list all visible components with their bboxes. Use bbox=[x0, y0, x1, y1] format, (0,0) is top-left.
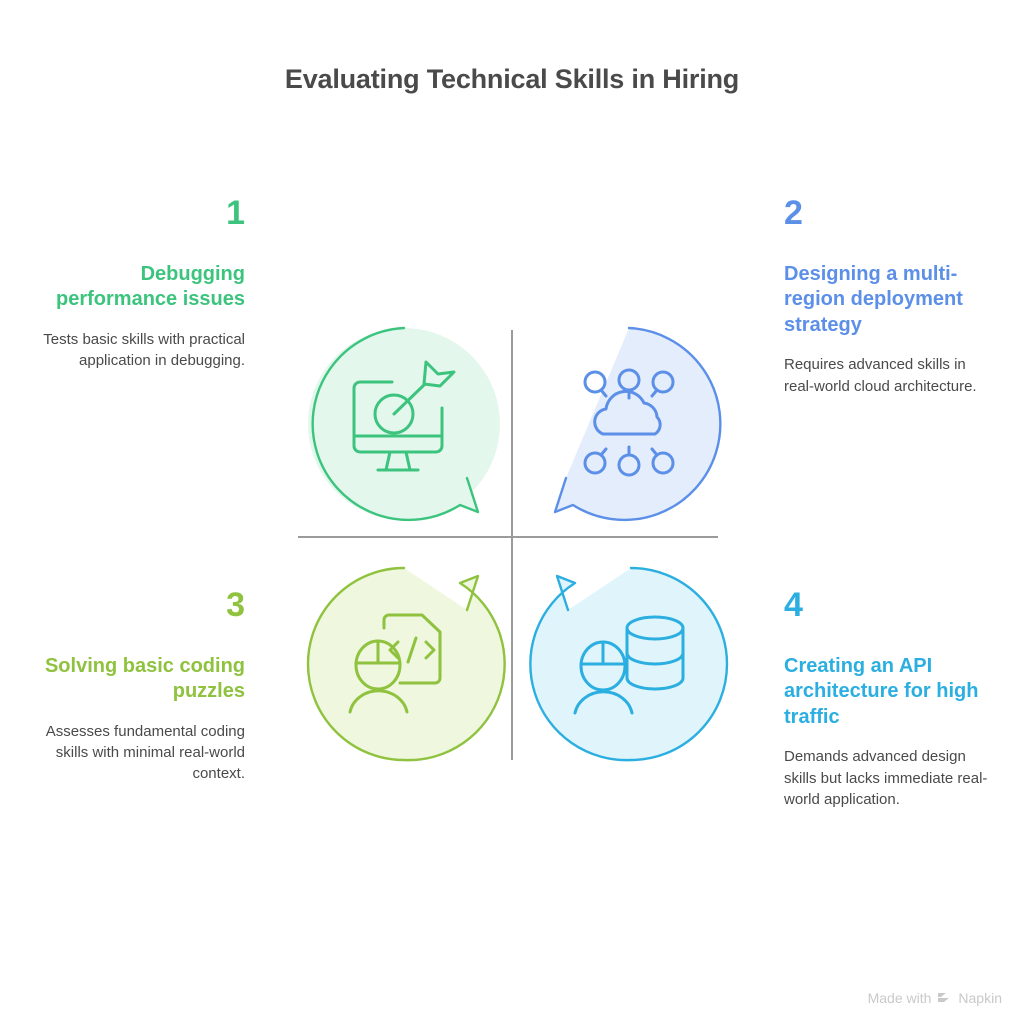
quadrant-heading-4: Creating an API architecture for high tr… bbox=[784, 654, 994, 731]
speech-bubble-shape-4 bbox=[530, 568, 727, 760]
infographic-page: Evaluating Technical Skills in Hiring bbox=[0, 0, 1024, 1024]
quadrant-text-4: 4 Creating an API architecture for high … bbox=[784, 588, 994, 810]
watermark-brand: Napkin bbox=[958, 990, 1002, 1006]
quadrant-number-3: 3 bbox=[35, 588, 245, 624]
watermark-prefix: Made with bbox=[868, 990, 932, 1006]
page-title: Evaluating Technical Skills in Hiring bbox=[0, 64, 1024, 95]
quadrant-text-1: 1 Debugging performance issues Tests bas… bbox=[35, 196, 245, 371]
quadrant-number-1: 1 bbox=[35, 196, 245, 232]
quadrant-text-3: 3 Solving basic coding puzzles Assesses … bbox=[35, 588, 245, 785]
quadrant-description-4: Demands advanced design skills but lacks… bbox=[784, 746, 994, 810]
quadrant-text-2: 2 Designing a multi-region deployment st… bbox=[784, 196, 994, 397]
quadrant-number-2: 2 bbox=[784, 196, 994, 232]
watermark: Made with Napkin bbox=[868, 990, 1002, 1006]
bubble-quadrant-4[interactable] bbox=[527, 560, 735, 768]
speech-bubble-shape-3 bbox=[308, 568, 505, 760]
bubble-quadrant-1[interactable] bbox=[300, 320, 508, 528]
quadrant-heading-2: Designing a multi-region deployment stra… bbox=[784, 262, 994, 339]
quadrant-axis-horizontal bbox=[298, 536, 718, 538]
speech-bubble-shape-2 bbox=[555, 328, 720, 520]
quadrant-description-2: Requires advanced skills in real-world c… bbox=[784, 354, 994, 397]
quadrant-heading-3: Solving basic coding puzzles bbox=[35, 654, 245, 705]
bubble-quadrant-2[interactable] bbox=[525, 320, 733, 528]
bubble-quadrant-3[interactable] bbox=[300, 560, 508, 768]
quadrant-description-1: Tests basic skills with practical applic… bbox=[35, 329, 245, 372]
quadrant-heading-1: Debugging performance issues bbox=[35, 262, 245, 313]
napkin-chevron-logo-icon bbox=[937, 991, 952, 1005]
quadrant-description-3: Assesses fundamental coding skills with … bbox=[35, 721, 245, 785]
quadrant-axis-vertical bbox=[511, 330, 513, 760]
quadrant-number-4: 4 bbox=[784, 588, 994, 624]
speech-bubble-shape-1 bbox=[308, 328, 500, 520]
